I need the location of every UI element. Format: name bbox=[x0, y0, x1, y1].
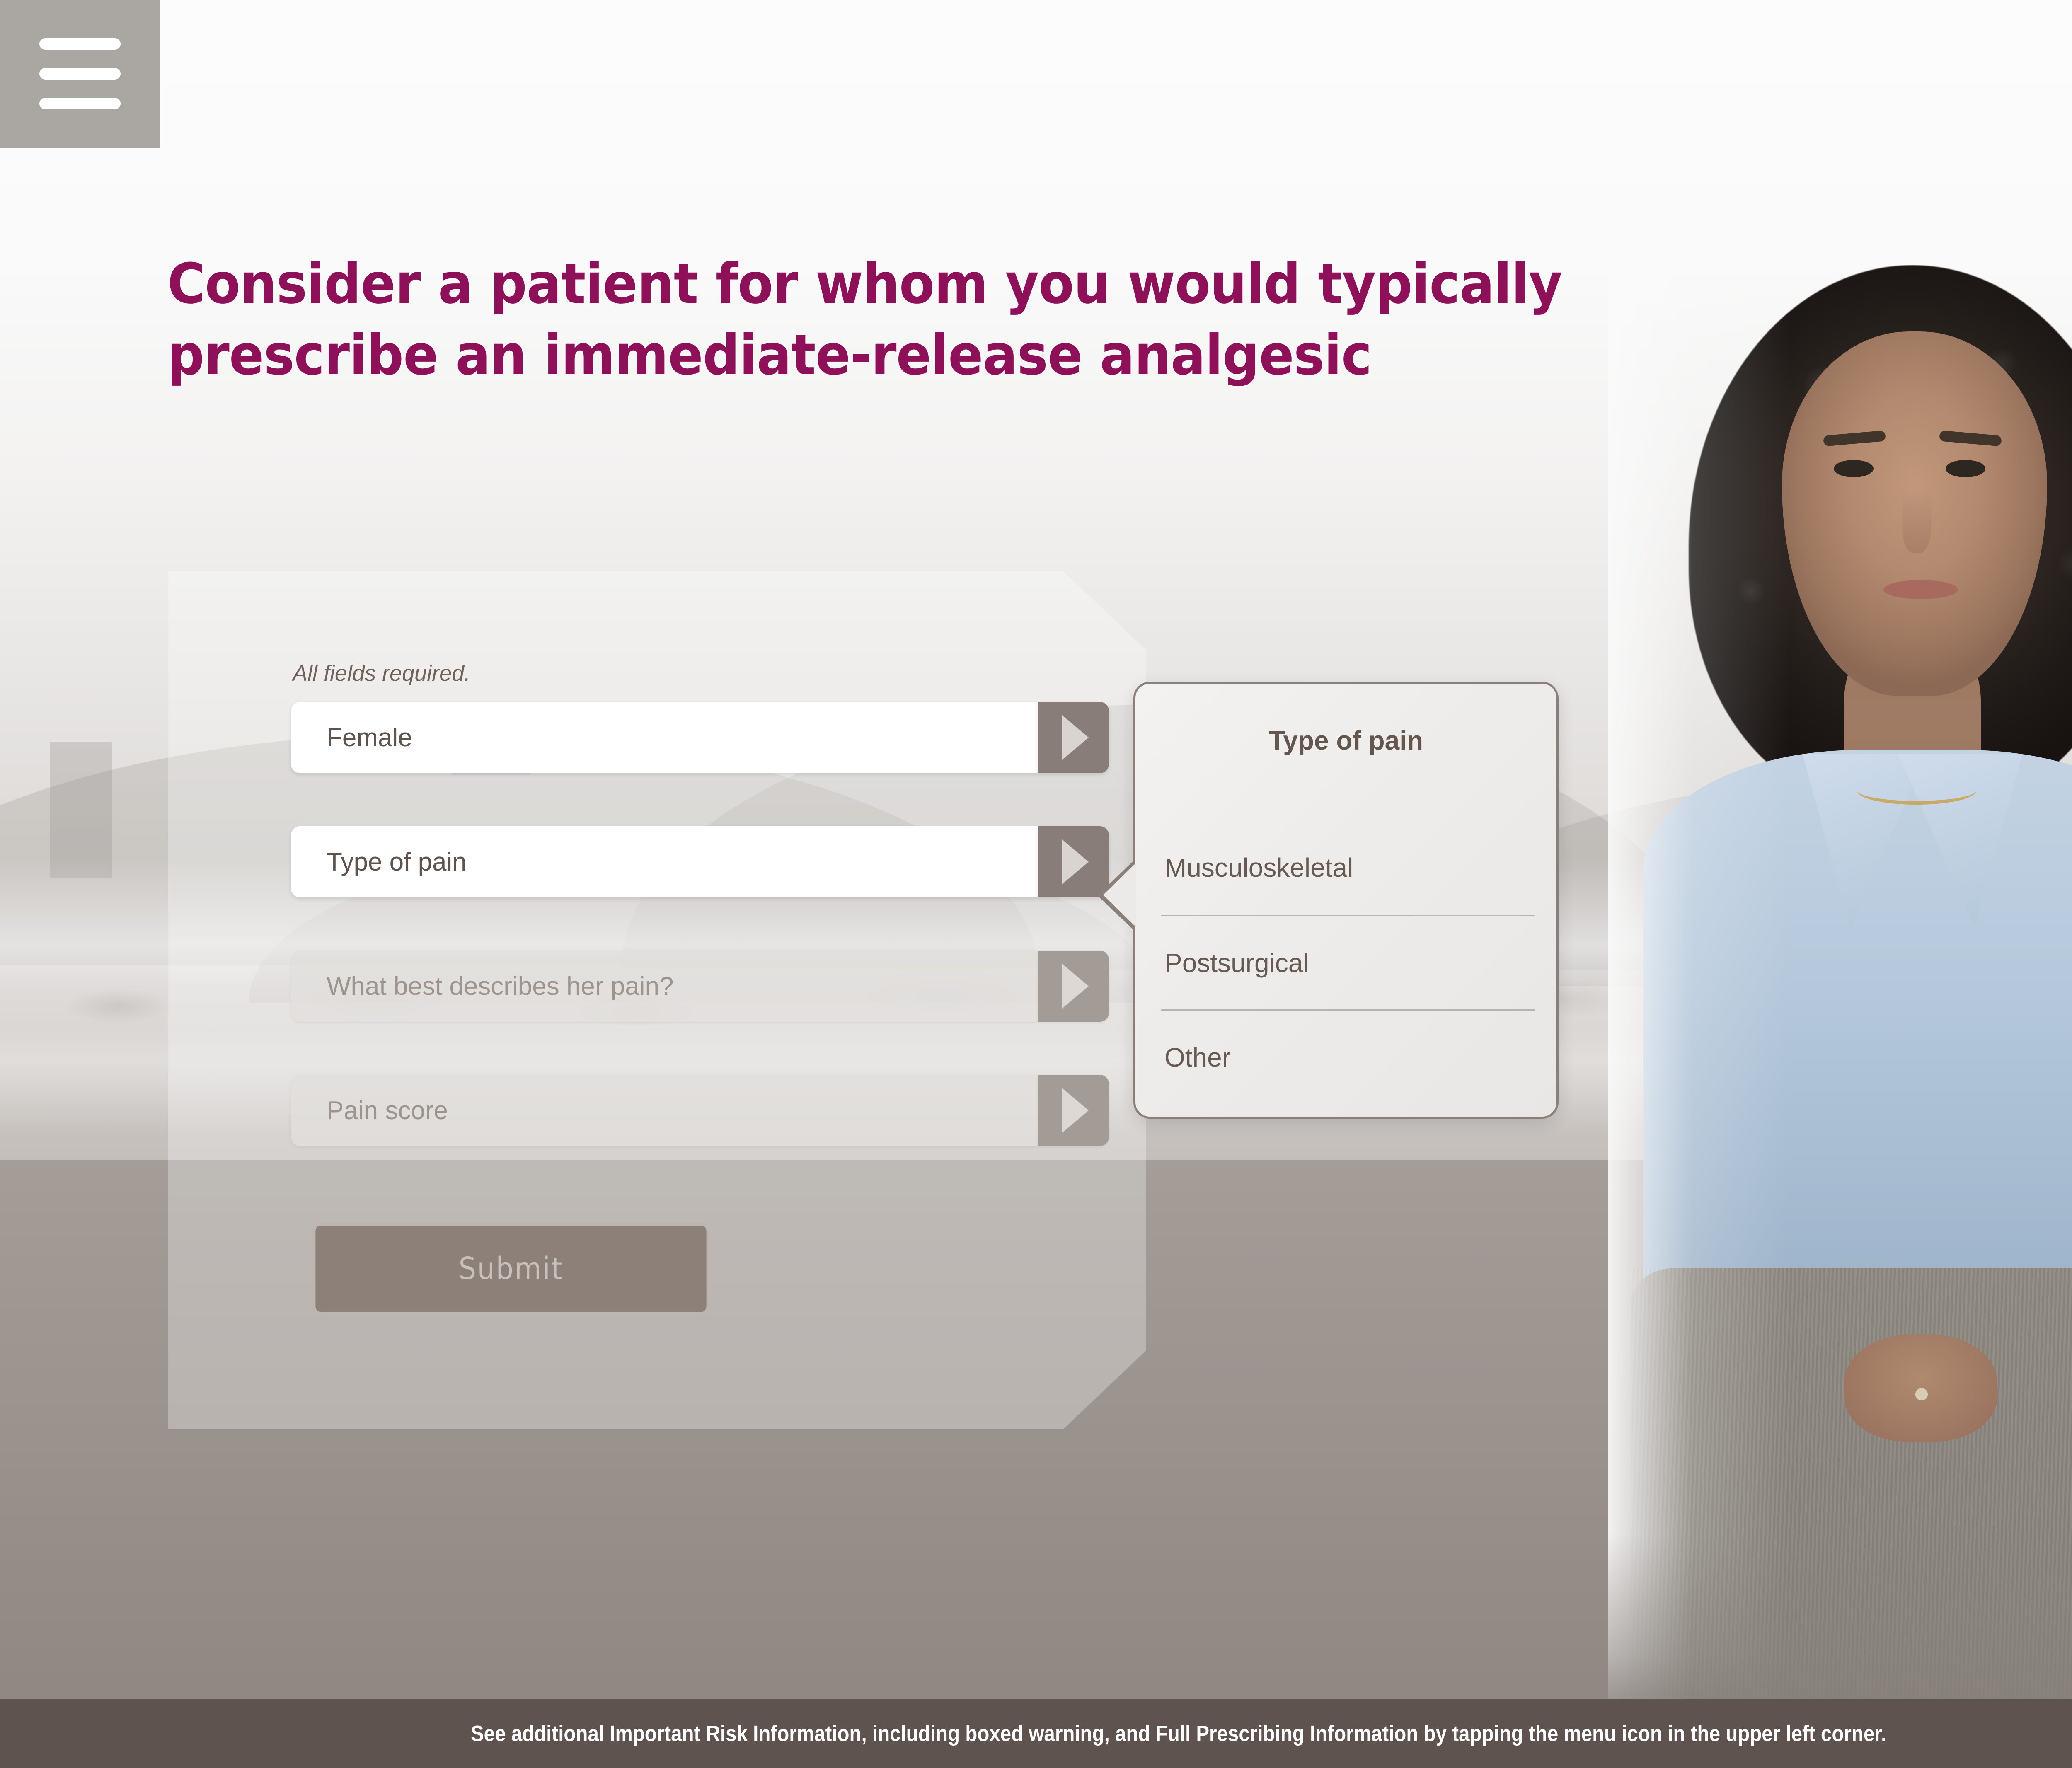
pain-descriptor-field[interactable]: What best describes her pain? bbox=[291, 951, 1109, 1022]
isi-text: See additional Important Risk Informatio… bbox=[471, 1721, 1886, 1746]
hamburger-icon-bar bbox=[39, 68, 121, 80]
type-of-pain-field[interactable]: Type of pain bbox=[291, 826, 1109, 897]
hamburger-icon-bar bbox=[39, 38, 121, 50]
gender-field-value[interactable]: Female bbox=[291, 702, 1038, 773]
pain-score-field[interactable]: Pain score bbox=[291, 1075, 1109, 1146]
patient-photo bbox=[1608, 265, 2072, 1707]
play-arrow-icon bbox=[1062, 964, 1089, 1009]
photo-edge-fade bbox=[1608, 265, 2072, 1707]
dropdown-title: Type of pain bbox=[1135, 725, 1556, 756]
hamburger-menu-button[interactable] bbox=[0, 0, 160, 148]
app-stage: Consider a patient for whom you would ty… bbox=[0, 0, 2072, 1768]
gender-field[interactable]: Female bbox=[291, 702, 1109, 773]
pain-descriptor-field-arrow-button[interactable] bbox=[1038, 951, 1109, 1022]
pain-descriptor-field-value[interactable]: What best describes her pain? bbox=[291, 951, 1038, 1022]
type-of-pain-field-value[interactable]: Type of pain bbox=[291, 826, 1038, 897]
photo-edge-fade bbox=[1608, 1533, 2072, 1707]
required-fields-note: All fields required. bbox=[293, 660, 470, 686]
pain-score-field-arrow-button[interactable] bbox=[1038, 1075, 1109, 1146]
patient-form-panel: All fields required. Female Type of pain… bbox=[168, 571, 1146, 1429]
gender-field-arrow-button[interactable] bbox=[1038, 702, 1109, 773]
play-arrow-icon bbox=[1062, 1088, 1089, 1133]
important-risk-information-bar: See additional Important Risk Informatio… bbox=[0, 1699, 2072, 1768]
dropdown-option-postsurgical[interactable]: Postsurgical bbox=[1161, 915, 1535, 1009]
pain-score-field-value[interactable]: Pain score bbox=[291, 1075, 1038, 1146]
dropdown-option-other[interactable]: Other bbox=[1161, 1009, 1535, 1104]
hamburger-icon-bar bbox=[39, 98, 121, 109]
play-arrow-icon bbox=[1062, 839, 1089, 884]
submit-button[interactable]: Submit bbox=[313, 1223, 709, 1315]
page-headline: Consider a patient for whom you would ty… bbox=[167, 249, 1670, 391]
play-arrow-icon bbox=[1062, 715, 1089, 760]
dropdown-option-musculoskeletal[interactable]: Musculoskeletal bbox=[1161, 820, 1535, 915]
type-of-pain-dropdown: Type of pain Musculoskeletal Postsurgica… bbox=[1133, 682, 1559, 1119]
